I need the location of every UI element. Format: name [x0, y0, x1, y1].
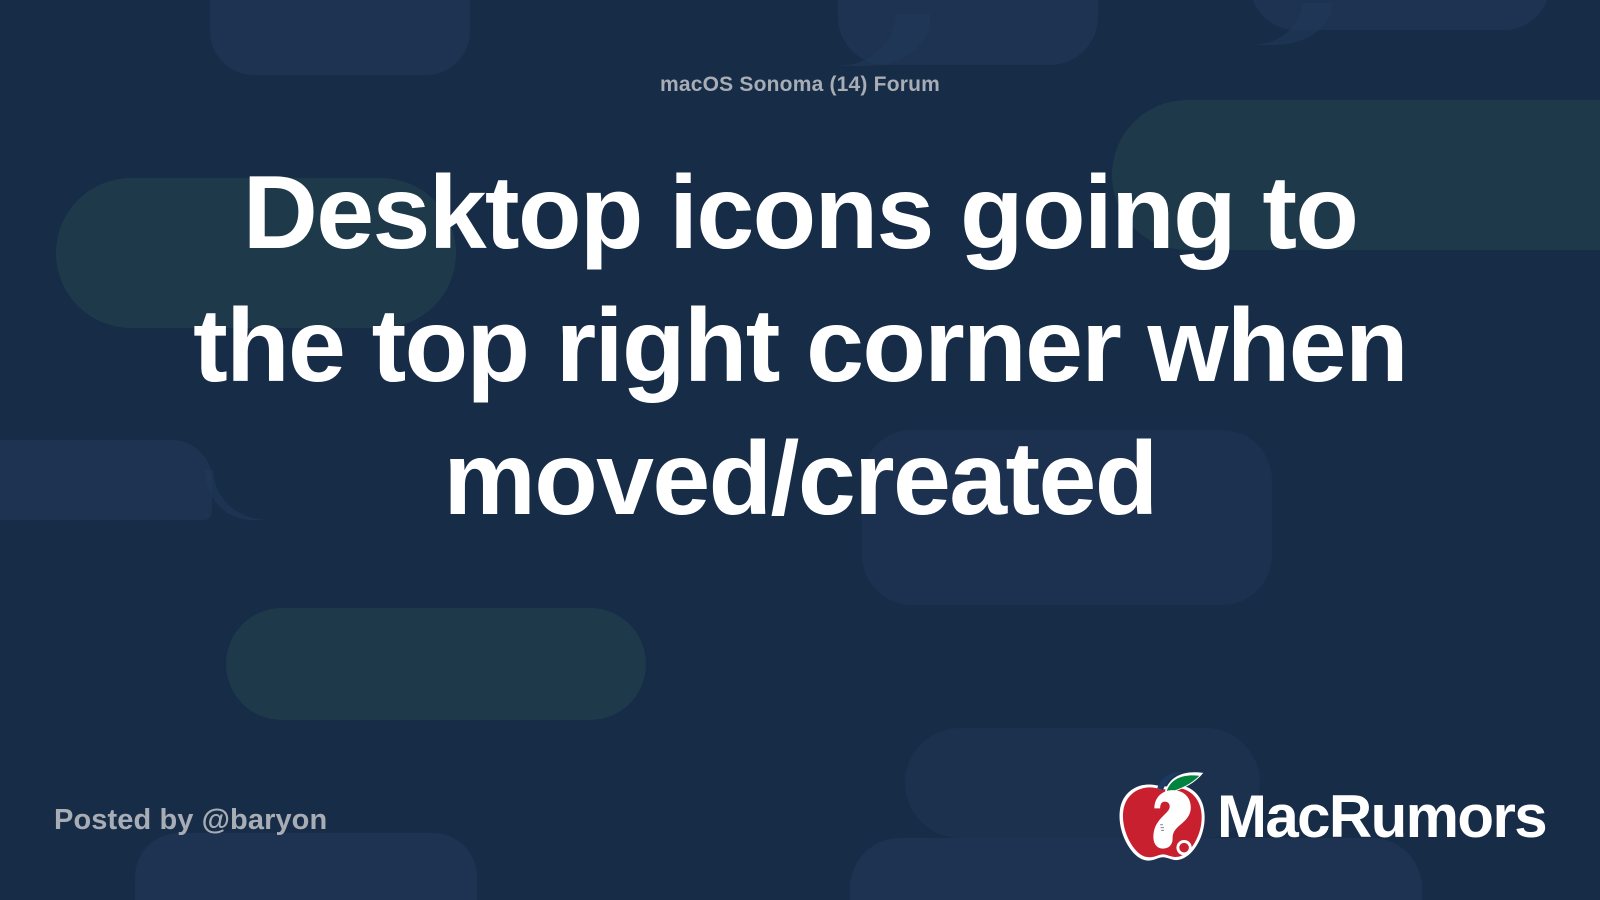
- thread-title: Desktop icons going to the top right cor…: [180, 147, 1420, 546]
- macrumors-apple-question-mark-logo: [1115, 771, 1211, 863]
- posted-by-label: Posted by @baryon: [54, 804, 327, 837]
- forum-category-label: macOS Sonoma (14) Forum: [660, 74, 940, 95]
- macrumors-brand: MacRumors: [1115, 771, 1546, 863]
- forum-thread-social-card: macOS Sonoma (14) Forum Desktop icons go…: [0, 0, 1600, 900]
- macrumors-wordmark: MacRumors: [1217, 787, 1546, 847]
- card-footer: Posted by @baryon M: [0, 740, 1600, 900]
